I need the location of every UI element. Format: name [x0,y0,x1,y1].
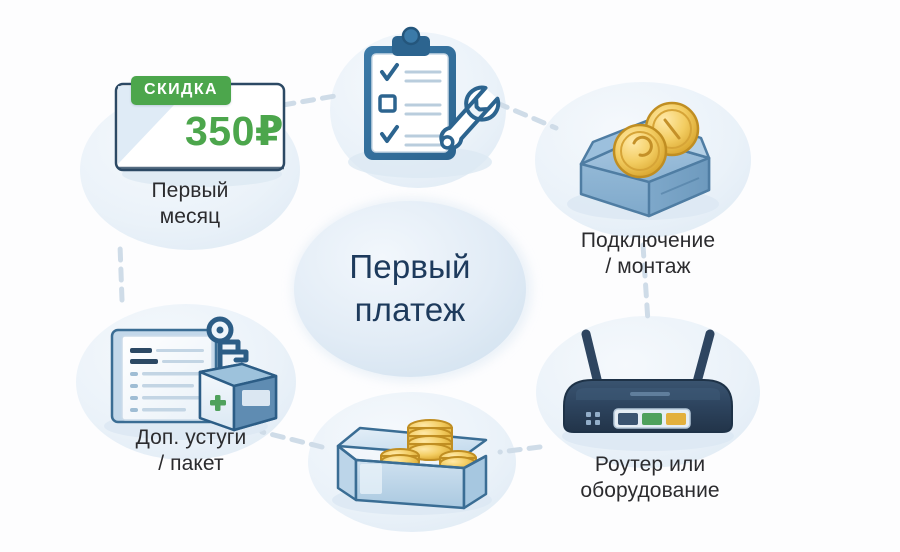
connector-extra-to-first-month [120,245,122,300]
center-label: Первый платеж [300,246,520,332]
discount-banner: СКИДКА [131,76,231,105]
infographic-canvas: СКИДКА 350₽ Первый платеж Первый месяц П… [0,0,900,552]
clipboard-wrench-icon [348,28,503,178]
service-box-icon [200,364,276,430]
connector-payment-to-extra [262,432,322,447]
connector-connection-to-router [643,245,648,322]
discount-amount: 350₽ [185,107,284,155]
router-ports [614,409,690,428]
